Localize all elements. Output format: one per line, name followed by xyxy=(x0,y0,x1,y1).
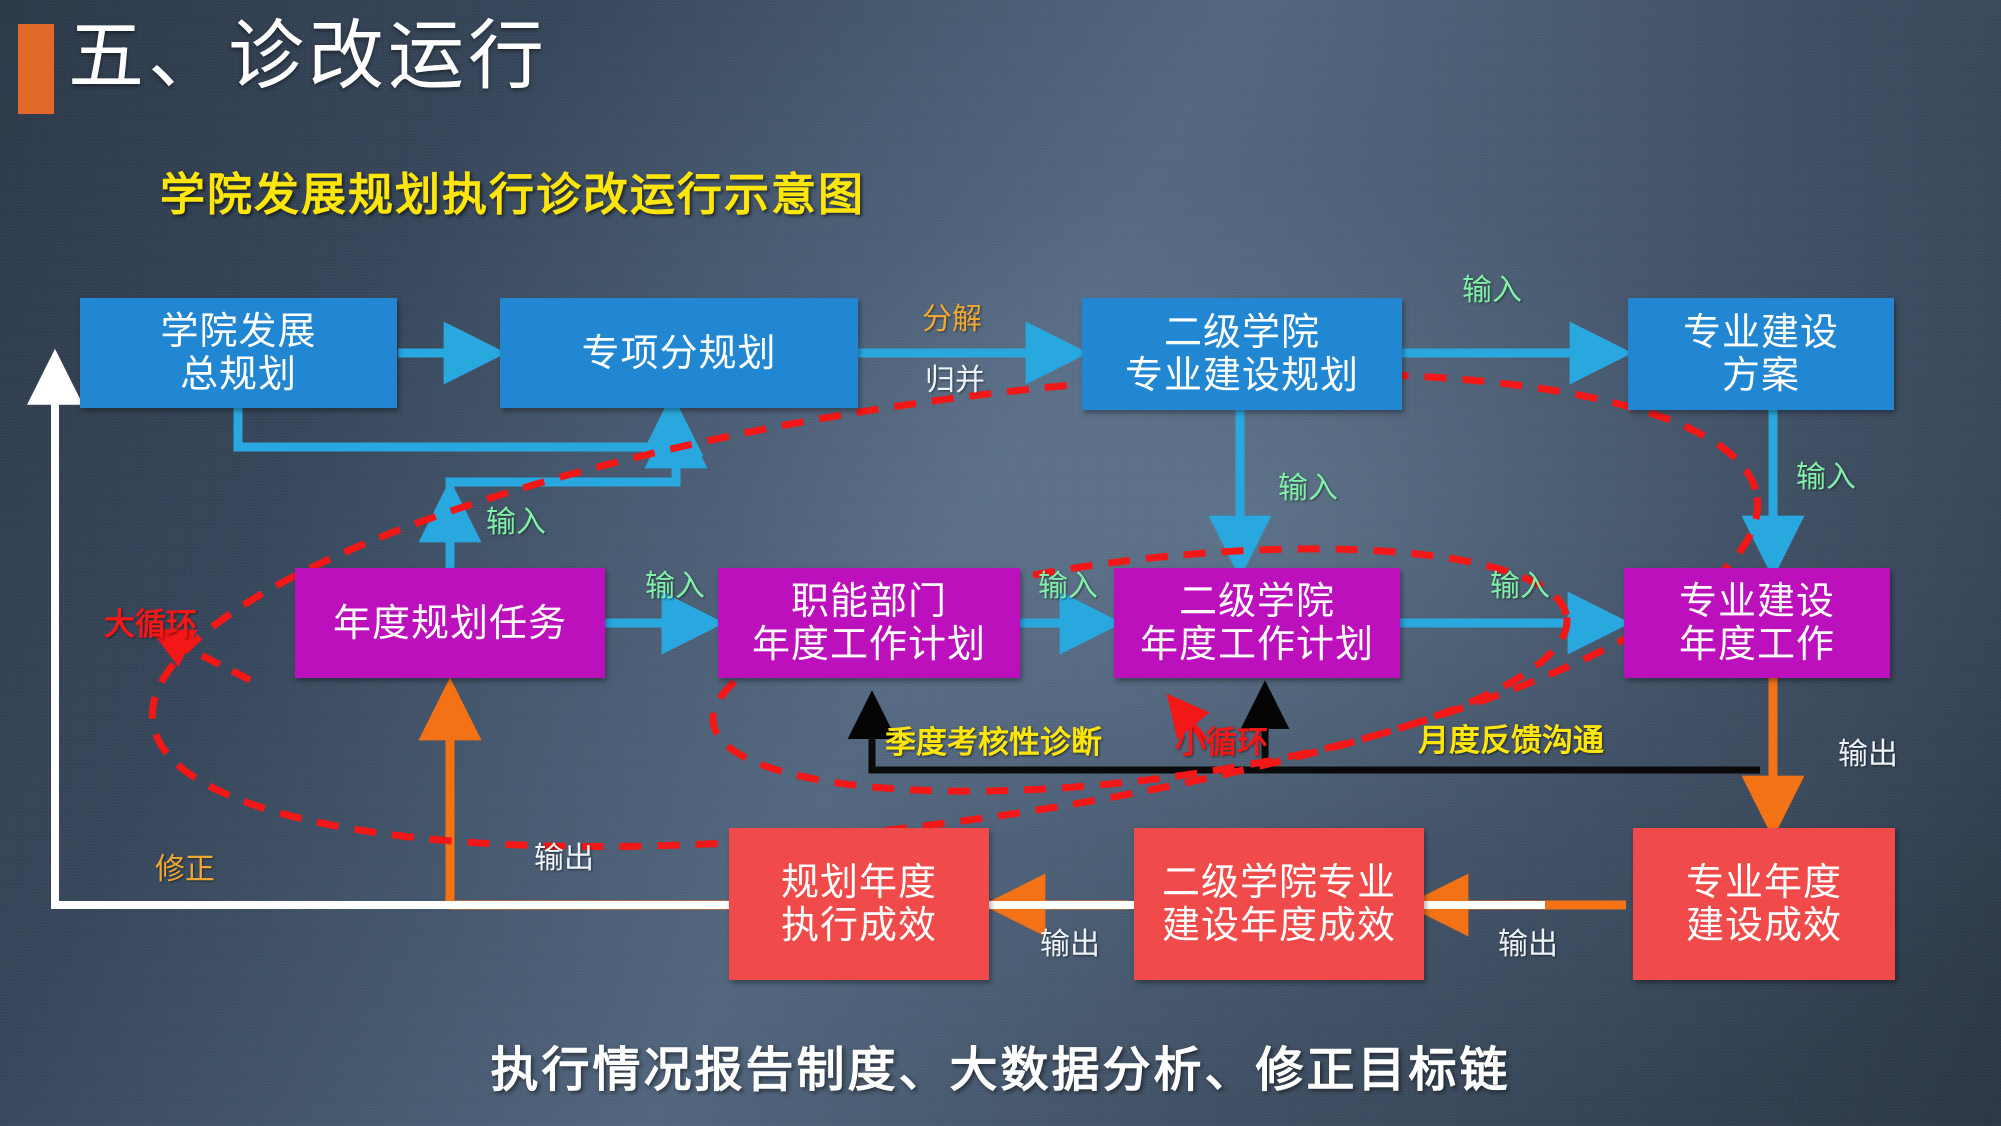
diagram-subtitle: 学院发展规划执行诊改运行示意图 xyxy=(160,158,865,223)
edge-label-input-top-right: 输入 xyxy=(1462,276,1522,306)
slide-canvas: 五、诊改运行 学院发展规划执行诊改运行示意图 xyxy=(0,0,2001,1126)
node-secondary-college-annual-work-plan[interactable]: 二级学院 年度工作计划 xyxy=(1114,568,1400,678)
edge-label-decompose: 分解 xyxy=(922,305,982,335)
edge-label-input-scheme-down: 输入 xyxy=(1796,463,1856,493)
edge-label-output-left-mid: 输出 xyxy=(534,844,594,874)
node-label: 年度规划任务 xyxy=(333,602,567,645)
title-accent-bar xyxy=(18,24,54,114)
edge-label-output-bottom-right: 输出 xyxy=(1498,930,1558,960)
node-label: 二级学院专业 建设年度成效 xyxy=(1162,861,1396,946)
edge-label-input-task-1: 输入 xyxy=(645,572,705,602)
node-label: 二级学院 专业建设规划 xyxy=(1125,311,1359,396)
node-label: 专业年度 建设成效 xyxy=(1686,861,1842,946)
edge-label-revise: 修正 xyxy=(155,855,215,885)
node-annual-plan-task[interactable]: 年度规划任务 xyxy=(295,568,605,678)
edge-label-input-secondary-down: 输入 xyxy=(1278,474,1338,504)
edge-label-input-task-3: 输入 xyxy=(1490,572,1550,602)
node-label: 专项分规划 xyxy=(581,332,776,375)
edge-label-output-bottom-mid: 输出 xyxy=(1040,930,1100,960)
node-secondary-college-major-annual-performance[interactable]: 二级学院专业 建设年度成效 xyxy=(1134,828,1424,980)
edge-label-input-task-up: 输入 xyxy=(486,508,546,538)
node-secondary-college-major-plan[interactable]: 二级学院 专业建设规划 xyxy=(1082,298,1402,410)
page-title: 五、诊改运行 xyxy=(68,16,548,97)
edge-label-monthly-feedback: 月度反馈沟通 xyxy=(1418,726,1604,757)
node-label: 职能部门 年度工作计划 xyxy=(752,580,986,665)
edge-label-small-loop: 小循环 xyxy=(1175,728,1268,759)
edge-label-input-task-2: 输入 xyxy=(1038,572,1098,602)
edge-label-big-loop: 大循环 xyxy=(104,610,197,641)
footer-caption: 执行情况报告制度、大数据分析、修正目标链 xyxy=(490,1030,1510,1100)
node-label: 二级学院 年度工作计划 xyxy=(1140,580,1374,665)
node-major-annual-work[interactable]: 专业建设 年度工作 xyxy=(1624,568,1890,678)
edge-label-quarterly-diagnosis: 季度考核性诊断 xyxy=(885,728,1102,759)
node-label: 专业建设 年度工作 xyxy=(1679,580,1835,665)
node-college-master-plan[interactable]: 学院发展 总规划 xyxy=(80,298,397,408)
node-major-construction-scheme[interactable]: 专业建设 方案 xyxy=(1628,298,1894,410)
node-department-annual-work-plan[interactable]: 职能部门 年度工作计划 xyxy=(718,568,1020,678)
master-plan-down-connector xyxy=(238,406,672,447)
edge-label-merge: 归并 xyxy=(925,366,985,396)
edge-label-output-right-top: 输出 xyxy=(1838,740,1898,770)
node-special-sub-plan[interactable]: 专项分规划 xyxy=(500,298,858,408)
node-major-annual-performance[interactable]: 专业年度 建设成效 xyxy=(1633,828,1895,980)
node-label: 规划年度 执行成效 xyxy=(781,861,937,946)
annual-task-up-connector xyxy=(450,418,676,570)
node-label: 学院发展 总规划 xyxy=(160,310,316,395)
node-label: 专业建设 方案 xyxy=(1683,311,1839,396)
node-plan-annual-performance[interactable]: 规划年度 执行成效 xyxy=(729,828,989,980)
